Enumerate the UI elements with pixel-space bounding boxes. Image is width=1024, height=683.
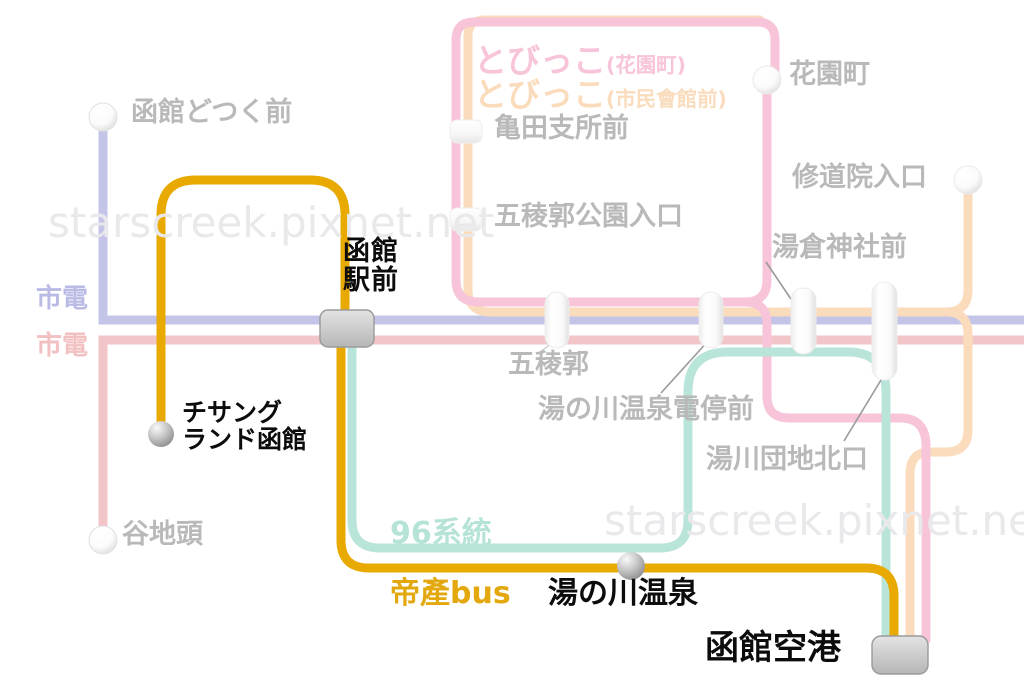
line-label-tobikko-shiminkaikanmae: とびっこ(市民會館前)	[474, 78, 727, 113]
line-label-shiden-purple: 市電	[36, 286, 88, 314]
station-marker-shudoin-iriguchi[interactable]	[954, 166, 982, 194]
station-label-yachigashira: 谷地頭	[122, 521, 203, 550]
leader-yukawa-danchi	[844, 380, 881, 441]
station-label-kameda-shisho-mae: 亀田支所前	[494, 115, 629, 144]
station-label-goryokaku-koen-iriguchi: 五稜郭公園入口	[494, 203, 683, 232]
line-tobikko-orange-airport	[910, 312, 968, 640]
station-marker-hakodate-kuko[interactable]	[872, 636, 928, 674]
station-label-yunokawa-onsen-dentei-mae: 湯の川温泉電停前	[538, 396, 754, 425]
line-label-teisan-bus: 帝產bus	[390, 578, 511, 610]
station-label-hakodate-kuko: 函館空港	[705, 630, 841, 666]
station-marker-yachigashira[interactable]	[89, 526, 117, 554]
station-marker-hanazonocho[interactable]	[753, 66, 781, 94]
station-label-yunokawa-onsen: 湯の川温泉	[548, 578, 698, 610]
station-label-hakodate-ekimae: 函館 駅前	[343, 238, 399, 295]
station-label-yukawa-danchi-kitaguchi: 湯川団地北口	[706, 446, 868, 475]
watermark-top: starscreek.pixnet.net	[48, 198, 494, 247]
station-marker-yukura-jinja-mae[interactable]	[791, 288, 816, 354]
station-label-chisun-grand-hakodate: チサング ランド函館	[182, 400, 307, 453]
station-label-line2: 駅前	[343, 267, 399, 296]
station-marker-chisun-grand-hakodate[interactable]	[148, 421, 174, 447]
transit-map: starscreek.pixnet.net starscreek.pixnet.…	[0, 0, 1024, 683]
station-marker-hakodate-ekimae[interactable]	[320, 310, 374, 347]
station-label-shudoin-iriguchi: 修道院入口	[792, 164, 927, 193]
line-label-paren: (花園町)	[606, 53, 686, 77]
line-label-shiden-red: 市電	[36, 333, 88, 361]
station-label-line1: 函館	[343, 238, 399, 267]
station-label-line2: ランド函館	[182, 427, 307, 454]
station-marker-yunokawa-onsen-dentei-mae[interactable]	[699, 292, 723, 348]
station-marker-goryokaku[interactable]	[545, 292, 569, 348]
station-label-goryokaku: 五稜郭	[508, 351, 589, 380]
watermark-bottom: starscreek.pixnet.net	[604, 496, 1024, 545]
station-marker-yukawa-danchi-kitaguchi[interactable]	[872, 282, 897, 380]
line-label-paren: (市民會館前)	[606, 87, 727, 111]
line-label-tobikko-hanazonocho: とびっこ(花園町)	[474, 44, 686, 79]
station-marker-kameda-shisho-mae[interactable]	[450, 120, 482, 143]
station-label-hakodate-dokku-mae: 函館どつく前	[131, 99, 292, 128]
line-label-main: とびっこ	[474, 75, 606, 114]
station-label-yukura-jinja-mae: 湯倉神社前	[772, 234, 907, 263]
station-label-line1: チサング	[182, 400, 307, 427]
line-label-route-96: 96系統	[390, 518, 492, 550]
station-marker-hakodate-dokku-mae[interactable]	[89, 103, 117, 131]
station-label-hanazonocho: 花園町	[789, 61, 870, 90]
